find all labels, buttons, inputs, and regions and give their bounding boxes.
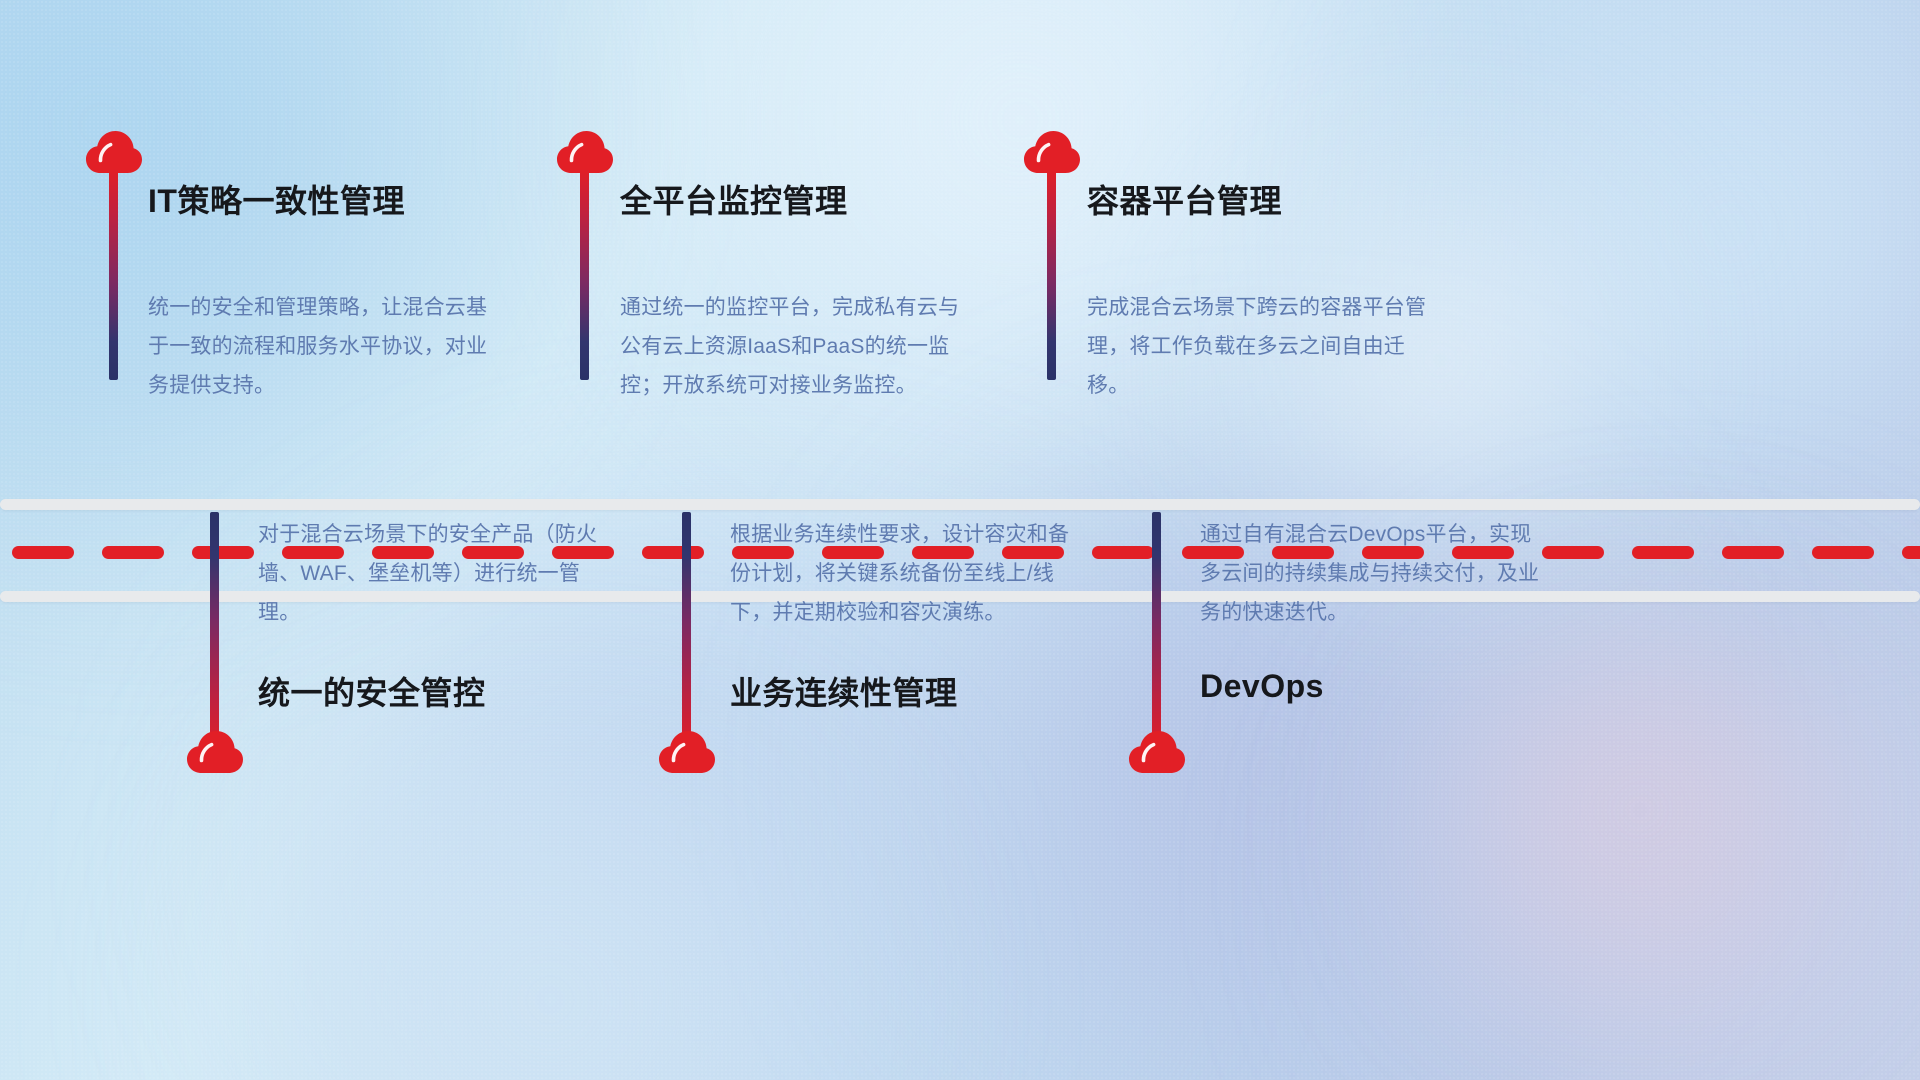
divider-rail-top	[0, 499, 1920, 510]
cloud-icon	[658, 730, 716, 774]
timeline-dash	[102, 546, 164, 559]
capability-title: IT策略一致性管理	[148, 176, 405, 222]
connector-stem	[1047, 168, 1056, 380]
cloud-icon-glyph	[1128, 730, 1186, 774]
capability-description: 完成混合云场景下跨云的容器平台管理，将工作负载在多云之间自由迁移。	[1087, 288, 1439, 405]
capability-title: 容器平台管理	[1087, 176, 1282, 222]
capability-title: DevOps	[1200, 668, 1324, 705]
capability-description: 通过统一的监控平台，完成私有云与公有云上资源IaaS和PaaS的统一监控；开放系…	[620, 288, 972, 405]
connector-stem	[109, 168, 118, 380]
timeline-dash	[642, 546, 704, 559]
cloud-icon	[186, 730, 244, 774]
timeline-dash	[1092, 546, 1154, 559]
connector-stem	[1152, 512, 1161, 754]
timeline-dash	[1722, 546, 1784, 559]
capability-description: 根据业务连续性要求，设计容灾和备份计划，将关键系统备份至线上/线下，并定期校验和…	[730, 515, 1082, 632]
connector-stem	[682, 512, 691, 754]
cloud-icon-glyph	[186, 730, 244, 774]
capability-title: 统一的安全管控	[258, 668, 486, 714]
cloud-icon	[1128, 730, 1186, 774]
timeline-dash	[192, 546, 254, 559]
capability-description: 对于混合云场景下的安全产品（防火墙、WAF、堡垒机等）进行统一管理。	[258, 515, 610, 632]
timeline-dash	[1632, 546, 1694, 559]
connector-stem	[210, 512, 219, 754]
capability-description: 统一的安全和管理策略，让混合云基于一致的流程和服务水平协议，对业务提供支持。	[148, 288, 500, 405]
capability-description: 通过自有混合云DevOps平台，实现多云间的持续集成与持续交付，及业务的快速迭代…	[1200, 515, 1552, 632]
cloud-icon-glyph	[658, 730, 716, 774]
timeline-dash	[1812, 546, 1874, 559]
timeline-dash	[12, 546, 74, 559]
timeline-dash	[1902, 546, 1920, 559]
capability-title: 全平台监控管理	[620, 176, 848, 222]
capability-title: 业务连续性管理	[730, 668, 958, 714]
connector-stem	[580, 168, 589, 380]
